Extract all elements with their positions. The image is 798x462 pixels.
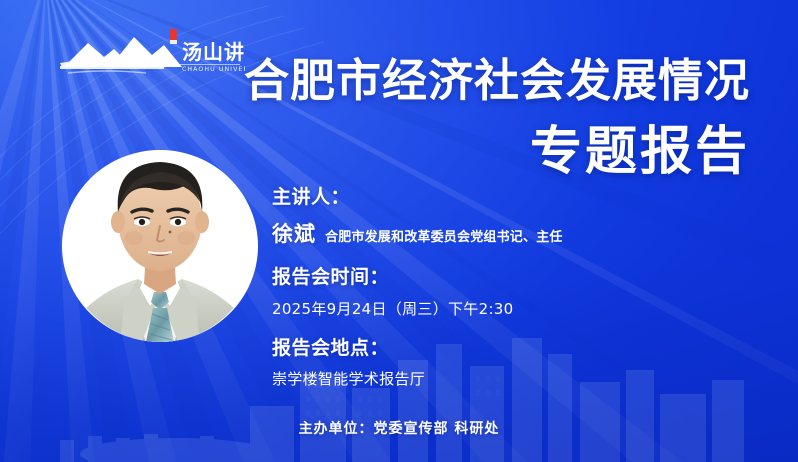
speaker-title: 合肥市发展和改革委员会党组书记、主任	[325, 226, 563, 245]
chaohu-university-logo: 汤山讲坛 CHAOHU UNIVERSITY	[60, 23, 245, 78]
portrait-disc	[62, 150, 258, 342]
speaker-label: 主讲人：	[272, 186, 692, 209]
speaker-name: 徐斌	[272, 218, 316, 248]
logo-name-cn: 汤山讲坛	[182, 40, 245, 64]
headline-line-2: 专题报告	[244, 126, 750, 178]
mountain-logo-icon	[60, 37, 182, 73]
event-info-block: 主讲人： 徐斌 合肥市发展和改革委员会党组书记、主任 报告会时间： 2025年9…	[272, 186, 692, 389]
speaker-portrait	[62, 116, 258, 342]
speaker-row: 徐斌 合肥市发展和改革委员会党组书记、主任	[272, 218, 692, 248]
organizer-footer: 主办单位：党委宣传部 科研处	[0, 418, 798, 438]
logo-torch-icon	[170, 29, 177, 44]
place-value: 崇学楼智能学术报告厅	[272, 368, 692, 389]
lecture-poster: 汤山讲坛 CHAOHU UNIVERSITY	[0, 0, 798, 462]
svg-text:CHAOHU UNIVERSITY: CHAOHU UNIVERSITY	[182, 66, 245, 73]
logo-name-en: CHAOHU UNIVERSITY	[178, 64, 245, 73]
time-group: 报告会时间： 2025年9月24日（周三）下午2:30	[272, 266, 692, 319]
time-value: 2025年9月24日（周三）下午2:30	[272, 298, 692, 319]
time-label: 报告会时间：	[272, 266, 692, 289]
headline-line-1: 合肥市经济社会发展情况	[244, 58, 750, 103]
poster-headline: 合肥市经济社会发展情况 专题报告	[244, 58, 750, 178]
place-group: 报告会地点： 崇学楼智能学术报告厅	[272, 337, 692, 390]
svg-text:汤山讲坛: 汤山讲坛	[182, 40, 245, 64]
place-label: 报告会地点：	[272, 337, 692, 360]
